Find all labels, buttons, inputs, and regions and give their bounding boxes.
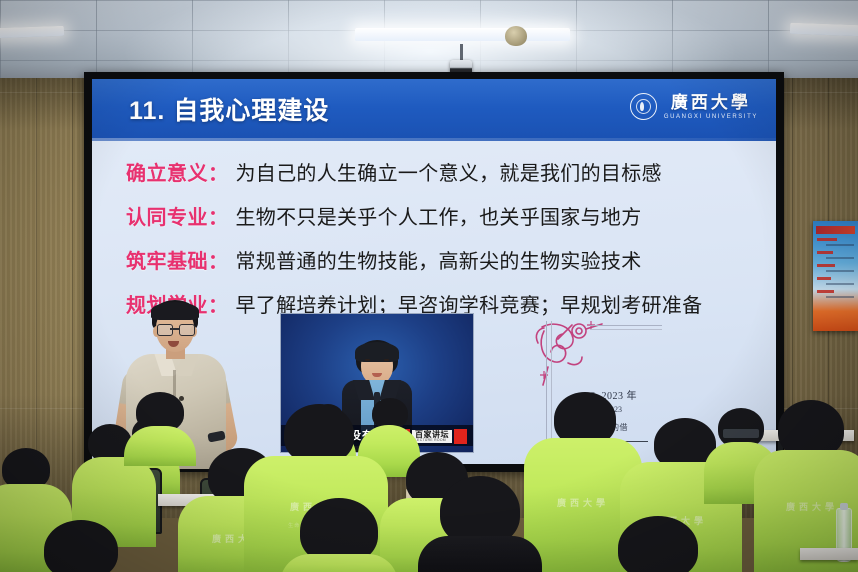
wall-poster bbox=[813, 221, 858, 331]
wall-power-outlet[interactable] bbox=[406, 489, 482, 509]
video-channel-badge: 百家讲坛 LECTURE ROOM bbox=[406, 429, 467, 444]
presenter-lecturer bbox=[118, 300, 238, 485]
slide-video-thumbnail[interactable]: 人生其实是没有意义的 百家讲坛 LECTURE ROOM bbox=[280, 313, 474, 453]
ornament-text-line1: 6. 2023 年 bbox=[590, 387, 637, 402]
badge-name-en: LECTURE ROOM bbox=[415, 439, 449, 442]
bullet-line: 认同专业： 生物不只是关乎个人工作，也关乎国家与地方 bbox=[126, 201, 751, 230]
university-seal-icon bbox=[630, 93, 657, 120]
ceiling-speaker-icon bbox=[505, 26, 527, 46]
bullet-label: 筑牢基础： bbox=[126, 245, 229, 274]
eyeglasses-icon bbox=[179, 324, 195, 336]
eyeglasses-icon bbox=[157, 324, 173, 336]
ceiling-light-glow bbox=[120, 0, 740, 82]
slide-ornament-block: 6. 2023 年 2023 统计的借 bbox=[524, 309, 664, 459]
bullet-line: 确立意义： 为自己的人生确立一个意义，就是我们的目标感 bbox=[126, 157, 751, 186]
bullet-line: 筑牢基础： 常规普通的生物技能，高新尖的生物实验技术 bbox=[126, 245, 751, 274]
ornament-text-line3: 统计的借 bbox=[594, 422, 628, 433]
university-name-en: GUANGXI UNIVERSITY bbox=[664, 114, 758, 120]
bullet-label: 认同专业： bbox=[126, 201, 229, 230]
shirt-logo-subtext: 生命科学与技术学院 bbox=[244, 522, 388, 529]
list-item bbox=[600, 516, 716, 572]
ceiling-led-panel-center bbox=[355, 28, 570, 41]
video-caption: 人生其实是没有意义的 bbox=[290, 427, 410, 443]
bullet-body: 生物不只是关乎个人工作，也关乎国家与地方 bbox=[236, 201, 642, 230]
list-item bbox=[28, 520, 138, 572]
ornament-text-line2: 2023 bbox=[606, 405, 622, 414]
bullet-body: 为自己的人生确立一个意义，就是我们的目标感 bbox=[236, 157, 662, 186]
bullet-label: 确立意义： bbox=[126, 157, 229, 186]
ceiling bbox=[0, 0, 858, 82]
slide-title: 11. 自我心理建设 bbox=[129, 91, 329, 127]
bullet-body: 常规普通的生物技能，高新尖的生物实验技术 bbox=[236, 245, 642, 274]
university-logo: 廣西大學 GUANGXI UNIVERSITY bbox=[630, 93, 758, 120]
floral-ornament-icon bbox=[532, 315, 612, 395]
desk bbox=[800, 548, 858, 560]
lecture-hall-photo: 11. 自我心理建设 廣西大學 GUANGXI UNIVERSITY 确立意义：… bbox=[0, 0, 858, 572]
university-name-cn: 廣西大學 bbox=[671, 94, 751, 111]
